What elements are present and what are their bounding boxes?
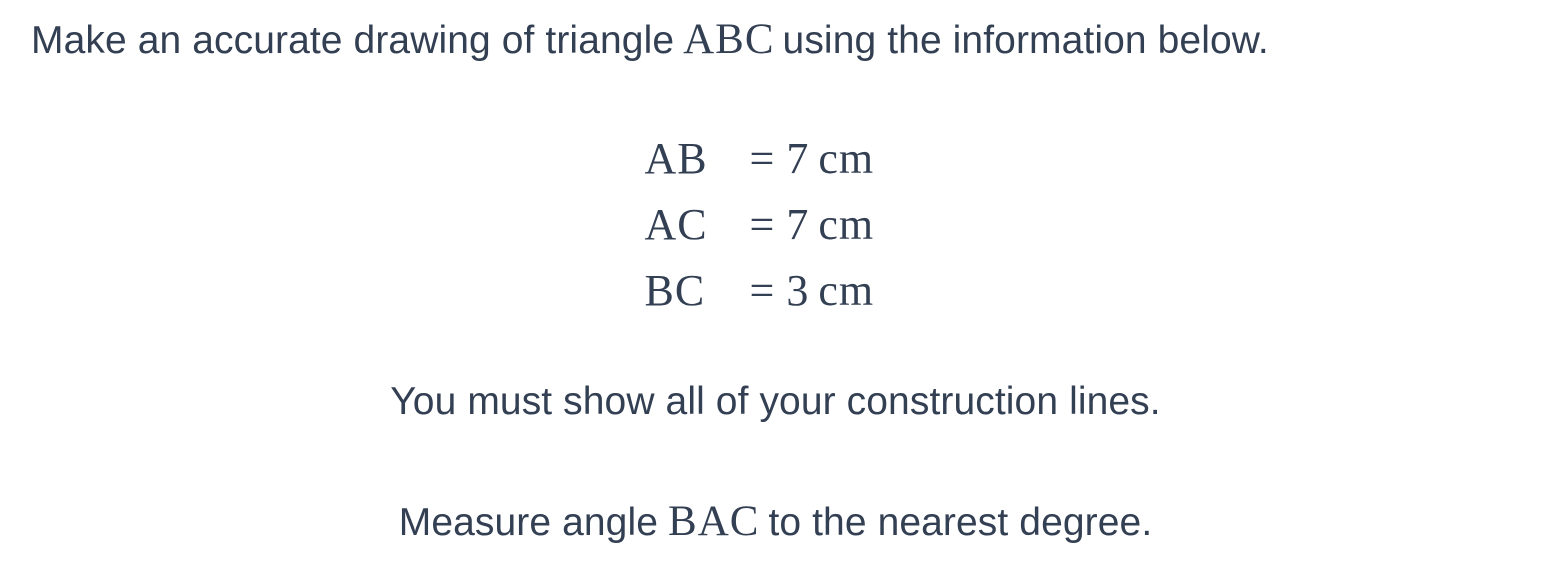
equation-lhs: AC [645,192,741,258]
equation-block: AB = 7 cm AC = 7 cm BC = 3 cm [0,126,1551,324]
equation-row-bc: BC = 3 cm [645,258,907,324]
measure-text-before: Measure angle [399,501,658,546]
prompt-line: Make an accurate drawing of triangle ABC… [31,15,1269,64]
equation-row-ab: AB = 7 cm [645,126,907,192]
equation-relation: = [741,258,787,324]
prompt-text-after: using the information below. [783,19,1269,64]
equation-unit: cm [809,126,874,192]
equation-relation: = [741,192,787,258]
equation-unit: cm [809,258,874,324]
construction-lines-statement: You must show all of your construction l… [0,380,1551,425]
equation-lhs: BC [645,258,741,324]
triangle-label-abc: ABC [683,15,774,64]
question-page: Make an accurate drawing of triangle ABC… [0,0,1551,571]
equation-lhs: AB [645,126,741,192]
equation-relation: = [741,126,787,192]
construction-lines-text: You must show all of your construction l… [390,380,1160,423]
measure-angle-inline: Measure angle BAC to the nearest degree. [399,497,1153,546]
prompt-text-before: Make an accurate drawing of triangle [31,19,674,64]
measure-angle-statement: Measure angle BAC to the nearest degree. [0,497,1551,546]
angle-label-bac: BAC [668,497,759,546]
equation-row-ac: AC = 7 cm [645,192,907,258]
equation-value: 3 [786,258,809,324]
equation-unit: cm [809,192,874,258]
equation-value: 7 [786,126,809,192]
measure-text-after: to the nearest degree. [768,501,1152,546]
equation-value: 7 [786,192,809,258]
